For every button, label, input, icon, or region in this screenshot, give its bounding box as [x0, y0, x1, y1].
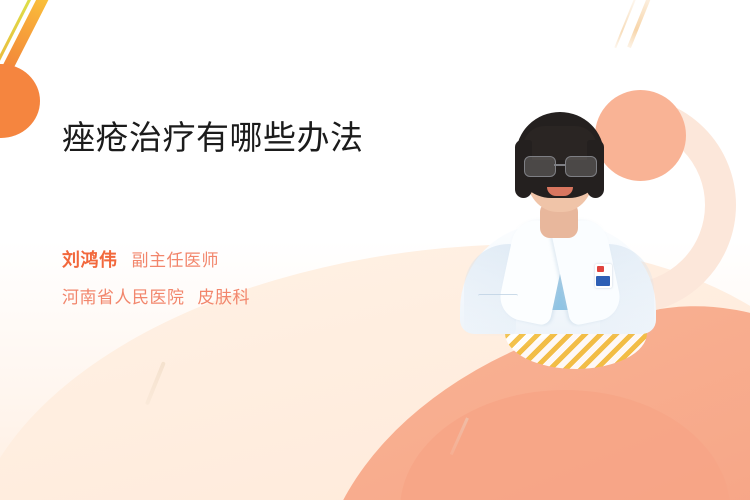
doctor-id-badge [595, 264, 612, 288]
coat-pocket [478, 294, 518, 329]
video-title: 痤疮治疗有哪些办法 [62, 118, 392, 158]
glasses-bridge [554, 164, 565, 166]
doctor-portrait [454, 104, 664, 329]
doctor-hair-bangs [523, 126, 597, 160]
doctor-affiliation-row: 河南省人民医院 皮肤科 [62, 283, 402, 308]
doctor-name-row: 刘鸿伟 副主任医师 [62, 246, 402, 272]
doctor-professional-title: 副主任医师 [132, 246, 220, 271]
doctor-meta-block: 刘鸿伟 副主任医师 河南省人民医院 皮肤科 [62, 246, 402, 319]
doctor-name: 刘鸿伟 [62, 246, 118, 272]
glasses-lens-right [565, 156, 597, 177]
badge-blue-mark [596, 276, 610, 286]
portrait-composition [430, 0, 750, 500]
badge-red-mark [597, 266, 604, 272]
doctor-glasses [523, 156, 597, 176]
doctor-hospital: 河南省人民医院 [62, 283, 185, 308]
glasses-lens-left [524, 156, 556, 177]
text-content: 痤疮治疗有哪些办法 刘鸿伟 副主任医师 河南省人民医院 皮肤科 [0, 0, 430, 500]
doctor-video-card: 痤疮治疗有哪些办法 刘鸿伟 副主任医师 河南省人民医院 皮肤科 [0, 0, 750, 500]
doctor-department: 皮肤科 [198, 283, 251, 308]
